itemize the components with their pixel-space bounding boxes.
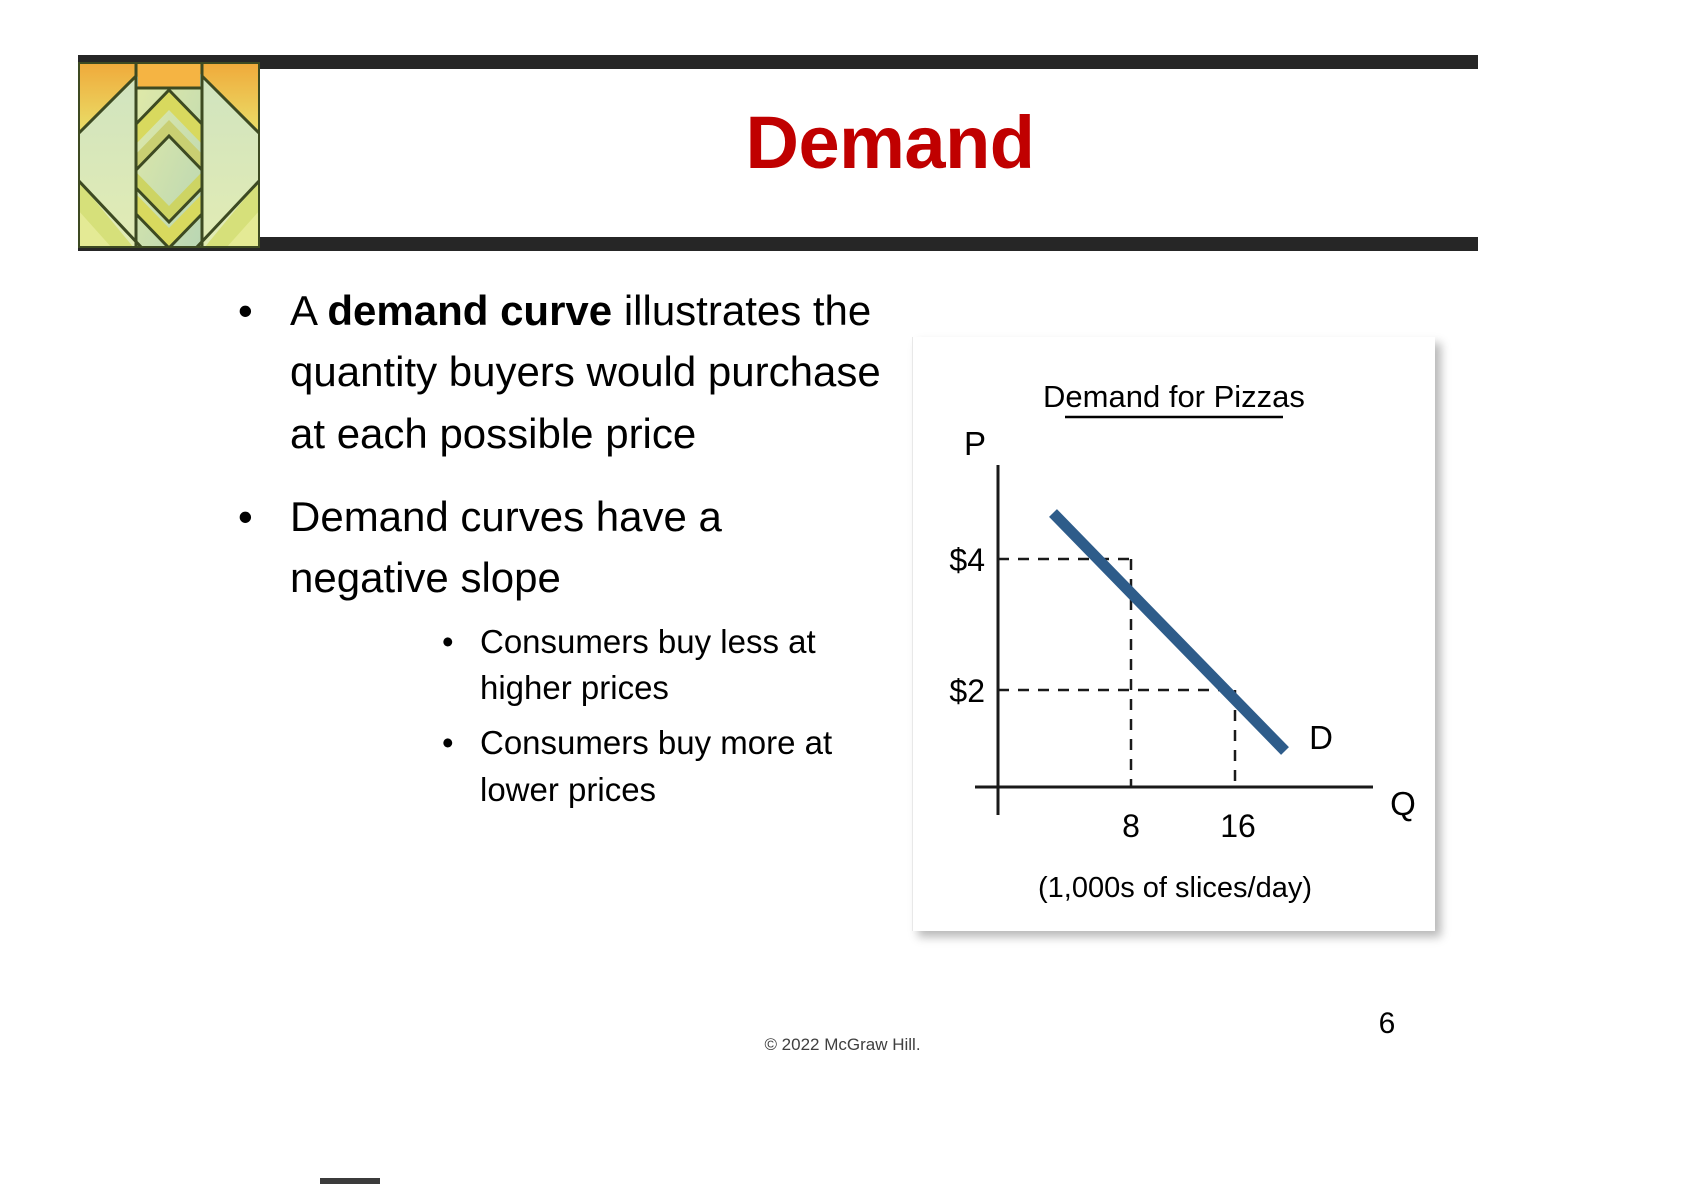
bullet-item: • Demand curves have a negative slope • …	[222, 486, 892, 814]
page-number: 6	[1352, 1007, 1422, 1041]
demand-chart-card: Demand for Pizzas P Q D $4 $2 8 16	[912, 337, 1435, 931]
sub-bullet-marker: •	[442, 619, 454, 666]
sub-bullet-item: • Consumers buy more at lower prices	[440, 720, 892, 814]
demand-curve-label: D	[1309, 719, 1333, 756]
header-rule-top	[78, 55, 1478, 69]
body-content: • A demand curve illustrates the quantit…	[222, 280, 892, 836]
bullet-marker: •	[238, 486, 253, 547]
header-rule-bottom	[78, 237, 1478, 251]
x-axis-caption: (1,000s of slices/day)	[1038, 872, 1312, 904]
copyright-notice: © 2022 McGraw Hill.	[0, 1035, 1685, 1055]
bullet-marker: •	[238, 280, 253, 341]
sub-bullet-text: Consumers buy less at higher prices	[480, 623, 816, 707]
chart-title: Demand for Pizzas	[1043, 379, 1305, 414]
sub-bullet-list: • Consumers buy less at higher prices • …	[440, 619, 892, 814]
bullet-lead-text: A	[290, 287, 327, 334]
sub-bullet-marker: •	[442, 720, 454, 767]
x-axis-label: Q	[1390, 785, 1416, 822]
y-axis-label: P	[964, 425, 986, 462]
page-title: Demand	[300, 104, 1480, 182]
bullet-bold-text: demand curve	[327, 287, 612, 334]
bullet-tail-text: Demand curves have a negative slope	[290, 493, 722, 601]
y-tick-label-4: $4	[949, 542, 985, 578]
sub-bullet-item: • Consumers buy less at higher prices	[440, 619, 892, 713]
slide-canvas: Demand • A demand curve illustrates the …	[0, 0, 1685, 1191]
sub-bullet-text: Consumers buy more at lower prices	[480, 724, 832, 808]
demand-curve-line	[1053, 513, 1285, 751]
x-tick-label-16: 16	[1220, 808, 1256, 844]
y-tick-label-2: $2	[949, 673, 985, 709]
bullet-item: • A demand curve illustrates the quantit…	[222, 280, 892, 464]
stained-glass-logo	[78, 62, 260, 248]
bottom-edge-mark	[320, 1178, 380, 1184]
x-tick-label-8: 8	[1122, 808, 1140, 844]
demand-chart-svg: Demand for Pizzas P Q D $4 $2 8 16	[913, 337, 1435, 931]
